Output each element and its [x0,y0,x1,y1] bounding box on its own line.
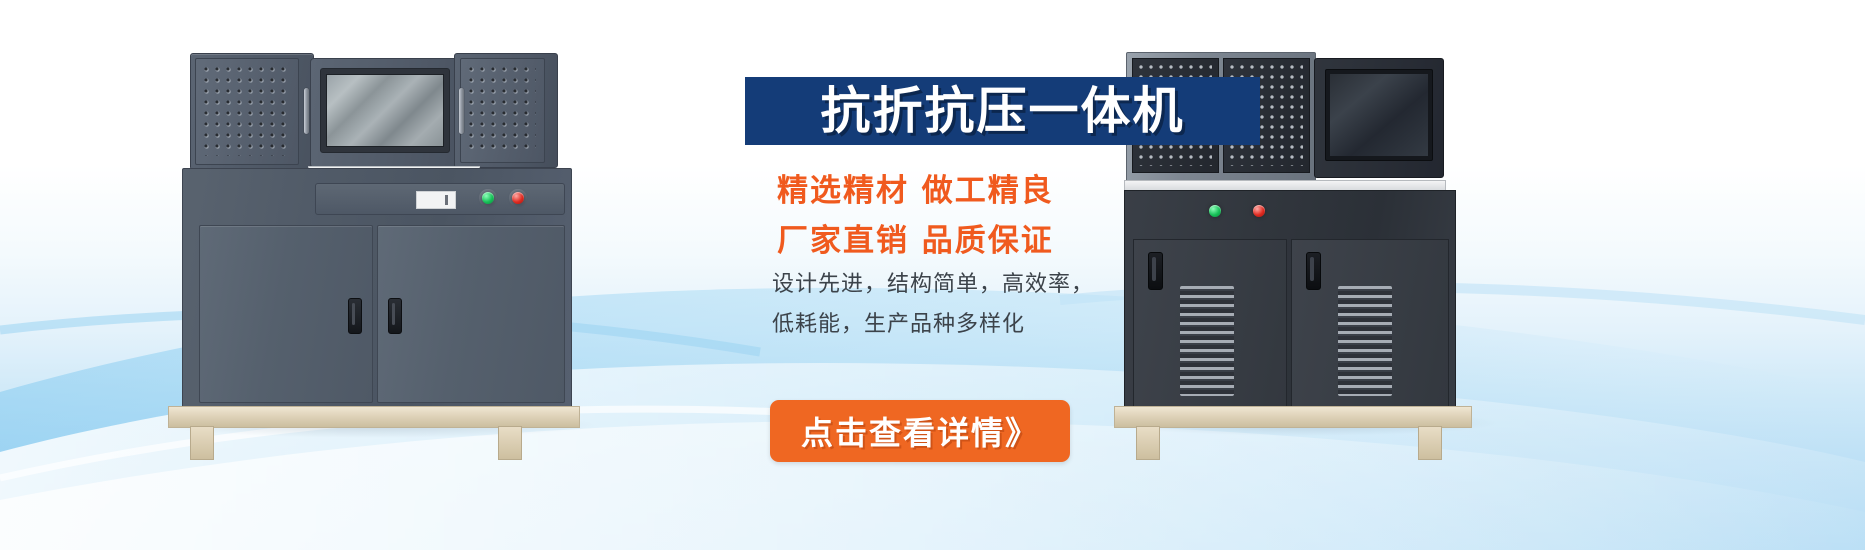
wooden-pallet [1114,406,1472,428]
left-upper-right-cabinet [454,53,558,168]
promo-banner: 抗折抗压一体机 精选精材 做工精良 厂家直销 品质保证 设计先进，结构简单，高效… [0,0,1865,550]
description-line-1: 设计先进，结构简单，高效率， [772,266,1094,298]
perforated-door [195,58,299,165]
left-lower-door [1133,239,1287,409]
subtitle-line-1: 精选精材 做工精良 [777,165,1054,210]
cabinet-handle-icon [304,88,309,134]
left-lower-door [199,225,373,403]
right-lower-door [1291,239,1449,409]
right-lower-door [377,225,565,403]
view-details-button-label: 点击查看详情》 [801,408,1039,454]
right-machine-body [1124,190,1456,410]
door-handle-icon [388,298,402,334]
nameplate-label [416,191,456,209]
indicator-led-red [1253,205,1265,217]
ventilation-louvers [1180,286,1234,396]
indicator-led-green [1209,205,1221,217]
right-monitor-housing [1314,58,1444,178]
indicator-led-green [482,192,494,204]
subtitle-line-2: 厂家直销 品质保证 [777,215,1054,260]
wooden-pallet [168,406,580,428]
monitor-screen [1330,74,1428,156]
door-handle-icon [1306,252,1321,290]
left-machine-body [182,168,572,408]
left-upper-cabinet [190,53,314,170]
machine-photo-left [168,40,588,430]
indicator-led-red [512,192,524,204]
door-handle-icon [1148,252,1163,290]
perforated-door [460,58,545,163]
door-handle-icon [348,298,362,334]
perforation-pattern [204,67,290,156]
ventilation-louvers [1338,286,1392,396]
left-monitor-housing [310,58,460,168]
page-title: 抗折抗压一体机 [821,86,1185,136]
pallet-leg [1136,426,1160,460]
pallet-leg [190,426,214,460]
monitor-bezel [1325,69,1433,161]
pallet-leg [1418,426,1442,460]
monitor-screen [326,74,444,147]
perforation-pattern [469,67,536,154]
title-banner: 抗折抗压一体机 [745,77,1260,145]
pallet-leg [498,426,522,460]
left-control-strip [315,183,565,215]
description-line-2: 低耗能，生产品种多样化 [772,306,1025,338]
view-details-button[interactable]: 点击查看详情》 [770,400,1070,462]
monitor-bezel [320,68,450,153]
promo-copy-block: 抗折抗压一体机 精选精材 做工精良 厂家直销 品质保证 设计先进，结构简单，高效… [617,72,1087,472]
cabinet-handle-icon [459,88,464,134]
